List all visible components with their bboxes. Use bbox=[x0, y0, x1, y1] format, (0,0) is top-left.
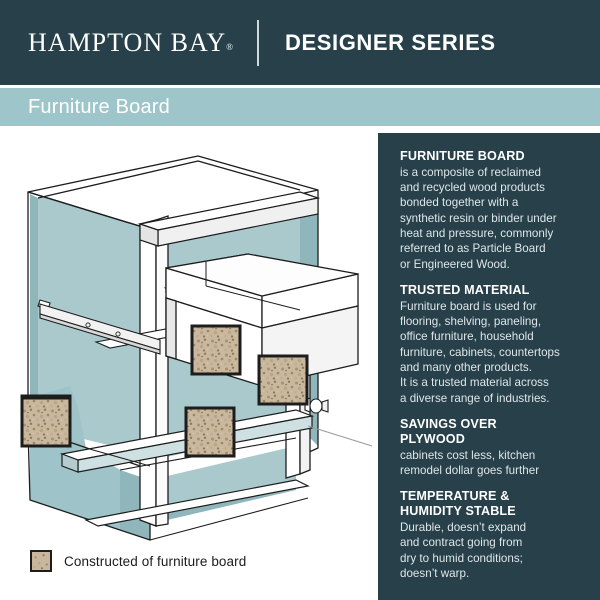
legend: Constructed of furniture board bbox=[30, 550, 246, 572]
info-heading: SAVINGS OVER PLYWOOD bbox=[400, 417, 586, 447]
subbar: Furniture Board bbox=[0, 88, 600, 126]
brand-header: HAMPTON BAY® DESIGNER SERIES bbox=[0, 0, 600, 85]
info-heading: TEMPERATURE & HUMIDITY STABLE bbox=[400, 489, 586, 519]
info-block-trusted-material: TRUSTED MATERIAL Furniture board is used… bbox=[400, 283, 586, 406]
material-swatch bbox=[259, 356, 307, 404]
info-body: Furniture board is used for flooring, sh… bbox=[400, 299, 586, 406]
series-name: DESIGNER SERIES bbox=[285, 30, 496, 56]
material-swatch bbox=[192, 326, 240, 374]
info-heading: FURNITURE BOARD bbox=[400, 149, 586, 164]
legend-label: Constructed of furniture board bbox=[64, 554, 246, 569]
info-block-furniture-board: FURNITURE BOARD is a composite of reclai… bbox=[400, 149, 586, 272]
info-block-savings-over-plywood: SAVINGS OVER PLYWOOD cabinets cost less,… bbox=[400, 417, 586, 478]
header-divider bbox=[257, 20, 259, 66]
product-feature-infographic: HAMPTON BAY® DESIGNER SERIES Furniture B… bbox=[0, 0, 600, 600]
material-swatch bbox=[22, 398, 70, 446]
info-heading: TRUSTED MATERIAL bbox=[400, 283, 586, 298]
page-title: Furniture Board bbox=[28, 96, 170, 119]
feature-info-panel: FURNITURE BOARD is a composite of reclai… bbox=[378, 133, 600, 600]
info-body: is a composite of reclaimed and recycled… bbox=[400, 165, 586, 272]
subbar-container: Furniture Board bbox=[0, 85, 600, 128]
brand-logo: HAMPTON BAY® bbox=[28, 28, 233, 58]
brand-name: HAMPTON BAY bbox=[28, 28, 226, 57]
cabinet-cutaway-drawing bbox=[0, 128, 378, 543]
furniture-board-swatch-icon bbox=[30, 550, 52, 572]
info-body: cabinets cost less, kitchen remodel doll… bbox=[400, 448, 586, 479]
info-block-temperature-humidity-stable: TEMPERATURE & HUMIDITY STABLE Durable, d… bbox=[400, 489, 586, 581]
registered-trademark-icon: ® bbox=[226, 42, 233, 52]
material-swatch bbox=[186, 408, 234, 456]
cabinet-illustration bbox=[0, 128, 378, 543]
info-body: Durable, doesn’t expand and contract goi… bbox=[400, 520, 586, 581]
